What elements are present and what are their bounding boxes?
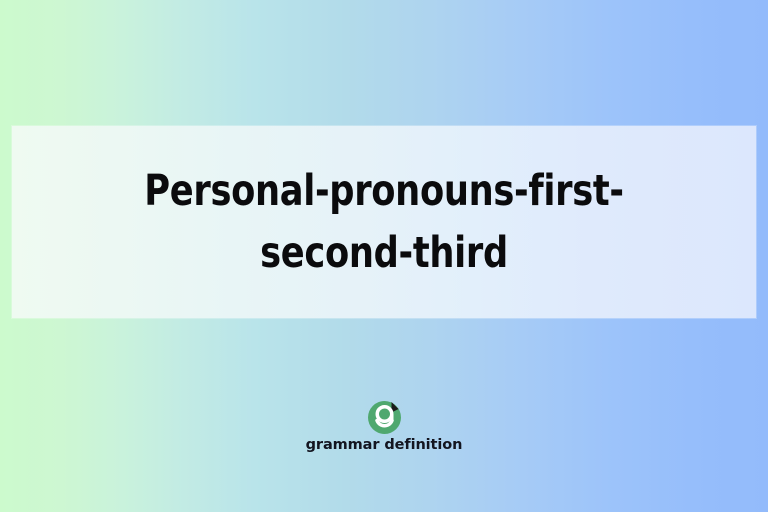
logo-svg xyxy=(367,400,402,435)
title-card: Personal-pronouns-first-second-third xyxy=(12,126,756,318)
page-title: Personal-pronouns-first-second-third xyxy=(97,160,671,284)
brand-name: grammar definition xyxy=(306,437,463,453)
poster-canvas: Personal-pronouns-first-second-third gra… xyxy=(0,0,768,512)
brand-block: grammar definition xyxy=(0,400,768,453)
grammar-definition-g-logo-icon xyxy=(367,400,402,435)
